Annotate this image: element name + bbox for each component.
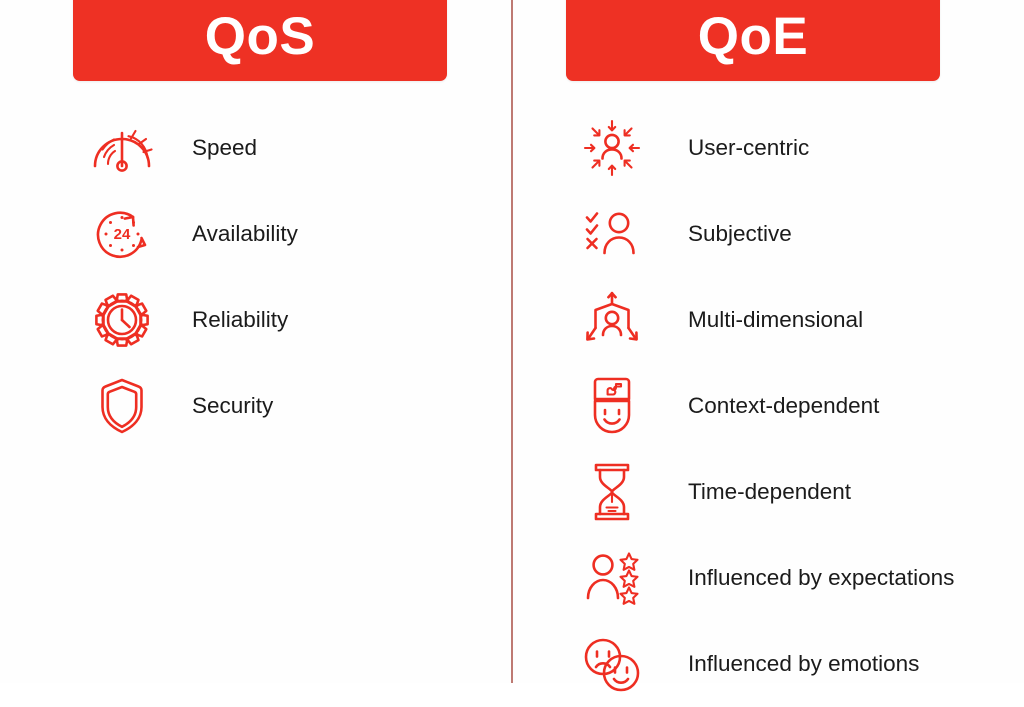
list-item-label: Time-dependent: [650, 479, 851, 505]
person-outward-arrows-icon: [574, 289, 650, 351]
list-item[interactable]: Influenced by emotions: [512, 621, 1024, 707]
sad-happy-faces-icon: [574, 633, 650, 695]
qos-column: QoS: [0, 0, 512, 683]
list-item[interactable]: Time-dependent: [512, 449, 1024, 535]
column-divider: [511, 0, 513, 683]
list-item-label: Multi-dimensional: [650, 307, 863, 333]
qos-banner: QoS: [73, 0, 447, 81]
list-item-label: Context-dependent: [650, 393, 879, 419]
list-item-label: Influenced by emotions: [650, 651, 919, 677]
gear-clock-icon: [86, 289, 158, 351]
list-item-label: Speed: [158, 135, 257, 161]
list-item-label: User-centric: [650, 135, 809, 161]
list-item[interactable]: Subjective: [512, 191, 1024, 277]
qoe-item-list: User-centric Subjective: [512, 105, 1024, 707]
person-stars-icon: [574, 547, 650, 609]
list-item[interactable]: Multi-dimensional: [512, 277, 1024, 363]
shield-icon: [86, 375, 158, 437]
qos-item-list: Speed 24: [0, 105, 512, 449]
qoe-column: QoE: [512, 0, 1024, 683]
svg-text:24: 24: [114, 226, 131, 243]
qoe-banner-title: QoE: [698, 10, 808, 63]
list-item-label: Subjective: [650, 221, 792, 247]
list-item-label: Security: [158, 393, 273, 419]
head-puzzle-smiley-icon: [574, 375, 650, 437]
list-item[interactable]: Speed: [0, 105, 512, 191]
list-item[interactable]: Influenced by expectations: [512, 535, 1024, 621]
list-item[interactable]: Reliability: [0, 277, 512, 363]
list-item-label: Influenced by expectations: [650, 565, 954, 591]
comparison-board: QoS: [0, 0, 1024, 683]
qos-banner-title: QoS: [205, 10, 315, 63]
clock-24-arrow-icon: 24: [86, 203, 158, 265]
list-item[interactable]: User-centric: [512, 105, 1024, 191]
person-checks-cross-icon: [574, 203, 650, 265]
list-item[interactable]: 24 Availability: [0, 191, 512, 277]
hourglass-icon: [574, 461, 650, 523]
list-item-label: Availability: [158, 221, 298, 247]
qoe-banner: QoE: [566, 0, 940, 81]
list-item-label: Reliability: [158, 307, 288, 333]
list-item[interactable]: Context-dependent: [512, 363, 1024, 449]
list-item[interactable]: Security: [0, 363, 512, 449]
speedometer-icon: [86, 117, 158, 179]
person-inward-arrows-icon: [574, 117, 650, 179]
